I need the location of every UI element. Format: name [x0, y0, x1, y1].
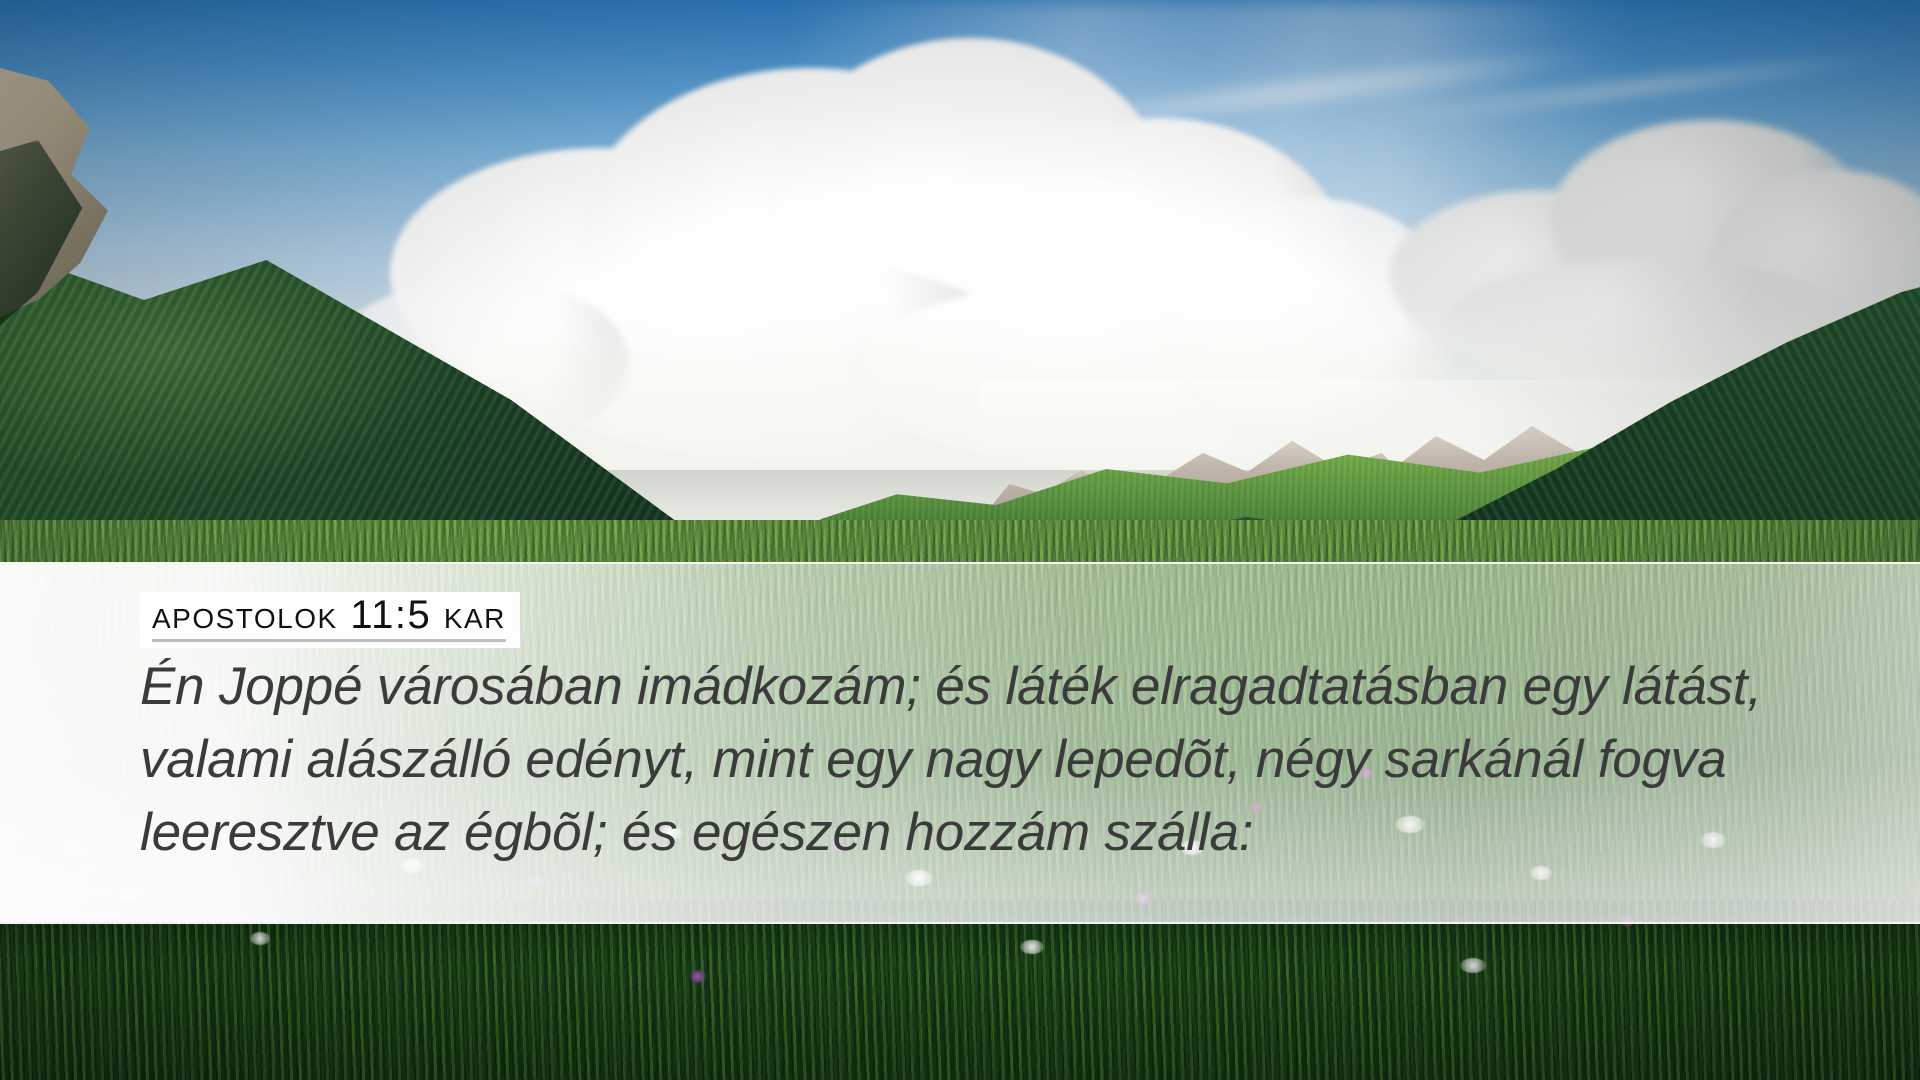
- verse-image-canvas: Apostolok 11:5 KAR Én Joppé városában im…: [0, 0, 1920, 1080]
- verse-body-text: Én Joppé városában imádkozám; és láték e…: [140, 650, 1770, 869]
- verse-content: Apostolok 11:5 KAR Én Joppé városában im…: [140, 564, 1780, 922]
- verse-reference: Apostolok 11:5 KAR: [152, 594, 506, 642]
- verse-overlay-band: Apostolok 11:5 KAR Én Joppé városában im…: [0, 562, 1920, 924]
- verse-reference-plate: Apostolok 11:5 KAR: [140, 592, 520, 648]
